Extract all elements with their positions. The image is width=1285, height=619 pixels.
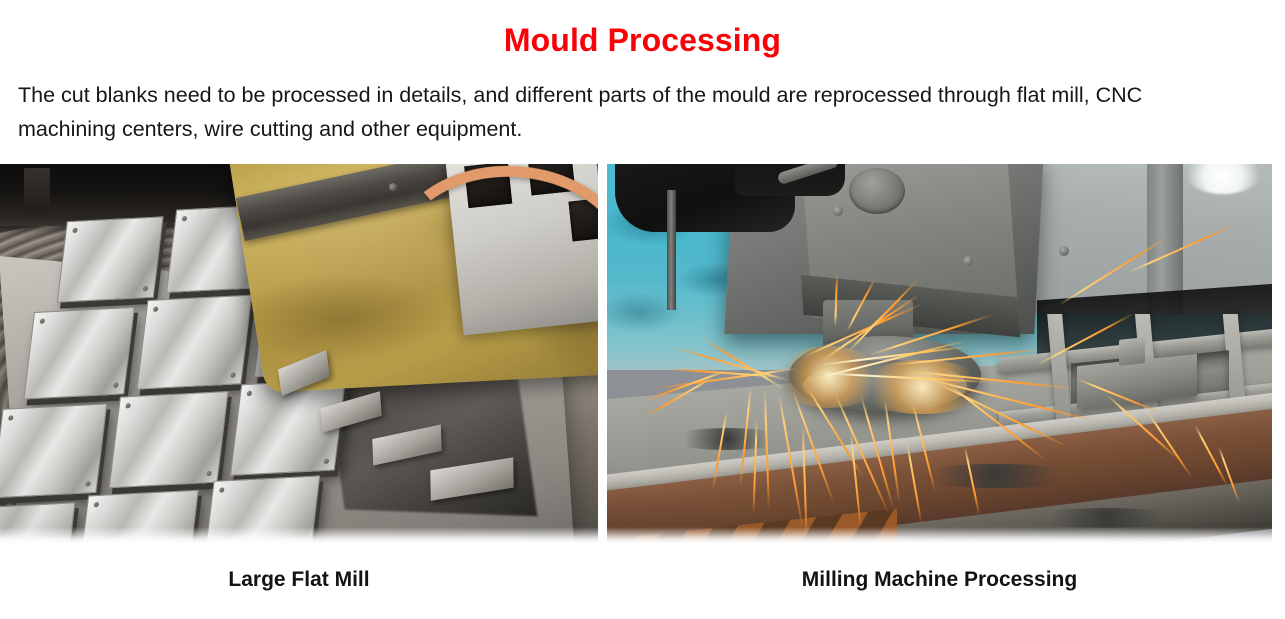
mould-processing-section: Mould Processing The cut blanks need to … (0, 0, 1285, 619)
photo-canvas-right (607, 164, 1272, 543)
steel-plate (0, 403, 107, 498)
spindle-boss (849, 168, 905, 214)
steel-plate (57, 216, 164, 303)
metal-chips (667, 428, 787, 450)
steel-plate (23, 307, 135, 400)
guide-rod (667, 190, 676, 310)
intro-paragraph: The cut blanks need to be processed in d… (18, 78, 1218, 146)
page-title: Mould Processing (0, 20, 1285, 60)
steel-plate (202, 475, 320, 543)
steel-plate (0, 502, 76, 543)
steel-plate (77, 490, 199, 543)
steel-plate (109, 391, 229, 488)
cutter-rim (803, 360, 967, 412)
photo-canvas-left (0, 164, 598, 543)
housing-bolt (833, 206, 843, 216)
metal-chips (907, 464, 1087, 488)
milling-machine-processing-photo (607, 164, 1272, 543)
photo-gallery (0, 164, 1285, 543)
caption-milling-machine-processing: Milling Machine Processing (607, 566, 1272, 594)
metal-chips (1027, 508, 1187, 528)
housing-bolt (963, 256, 973, 266)
housing-bolt (1059, 246, 1069, 256)
large-flat-mill-photo (0, 164, 598, 543)
caption-large-flat-mill: Large Flat Mill (0, 566, 598, 594)
steel-plate (136, 295, 252, 390)
